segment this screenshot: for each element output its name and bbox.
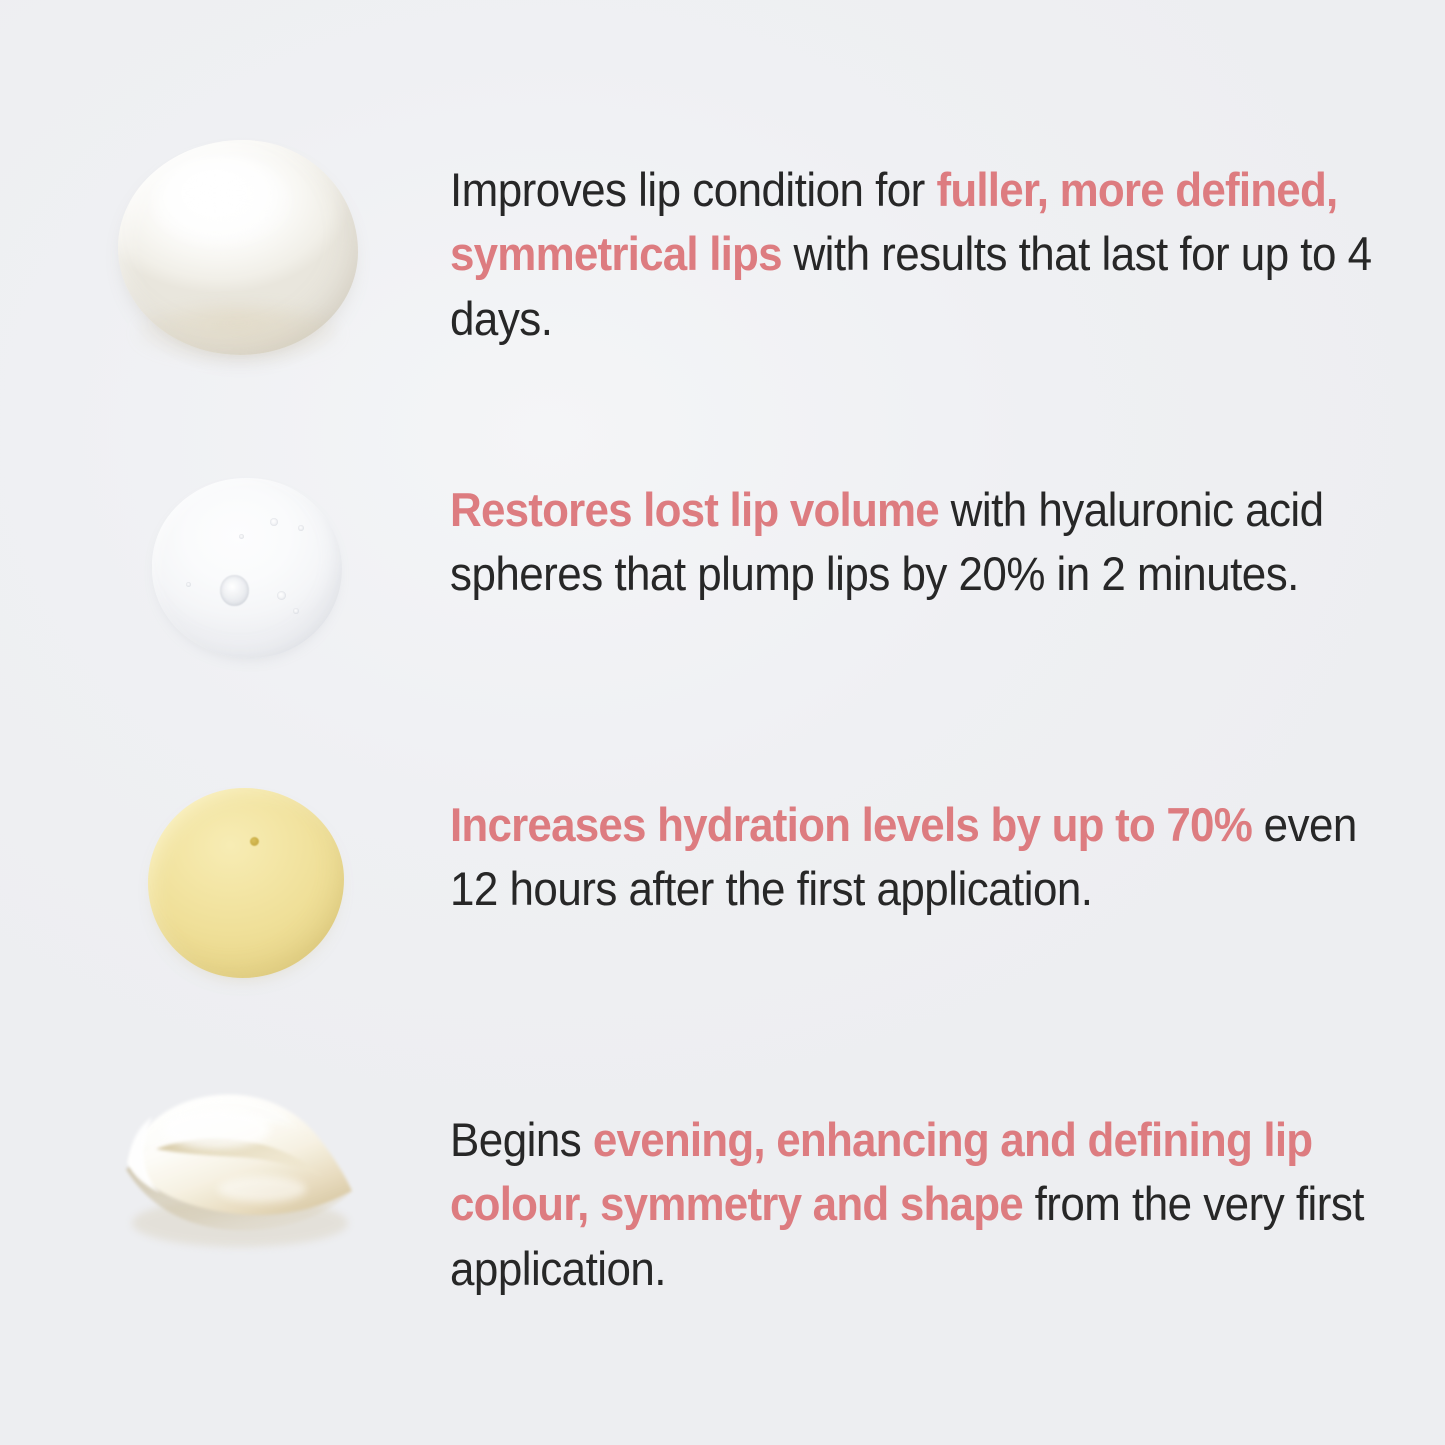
pearl-cream-swatch bbox=[118, 140, 358, 355]
swatch-cell-2 bbox=[152, 478, 342, 658]
gel-bubble-icon bbox=[239, 534, 244, 539]
swatch-cell-4 bbox=[112, 1085, 357, 1255]
swatch-cell-1 bbox=[118, 140, 358, 355]
benefit-1-segment-0: Improves lip condition for bbox=[450, 163, 936, 216]
benefit-text-4: Begins evening, enhancing and defining l… bbox=[450, 1108, 1394, 1301]
benefit-text-1: Improves lip condition for fuller, more … bbox=[450, 158, 1385, 351]
gel-bubble-icon bbox=[293, 608, 299, 614]
benefit-2-segment-0: Restores lost lip volume bbox=[450, 483, 939, 536]
yellow-oil-swatch bbox=[148, 788, 344, 978]
clear-gel-swatch bbox=[152, 478, 342, 658]
swatch-cell-3 bbox=[148, 788, 344, 978]
benefit-text-2: Restores lost lip volume with hyaluronic… bbox=[450, 478, 1376, 607]
product-benefits-infographic: Improves lip condition for fuller, more … bbox=[0, 0, 1445, 1445]
gel-bubble-icon bbox=[298, 525, 304, 531]
benefit-3-segment-0: Increases hydration levels by up to 70% bbox=[450, 798, 1252, 851]
benefit-text-3: Increases hydration levels by up to 70% … bbox=[450, 793, 1385, 922]
gel-bubble-icon bbox=[270, 518, 278, 526]
gel-bubble-icon bbox=[277, 591, 286, 600]
gel-bubble-icon bbox=[186, 582, 191, 587]
benefit-4-segment-0: Begins bbox=[450, 1113, 593, 1166]
cream-balm-swatch bbox=[112, 1085, 357, 1255]
